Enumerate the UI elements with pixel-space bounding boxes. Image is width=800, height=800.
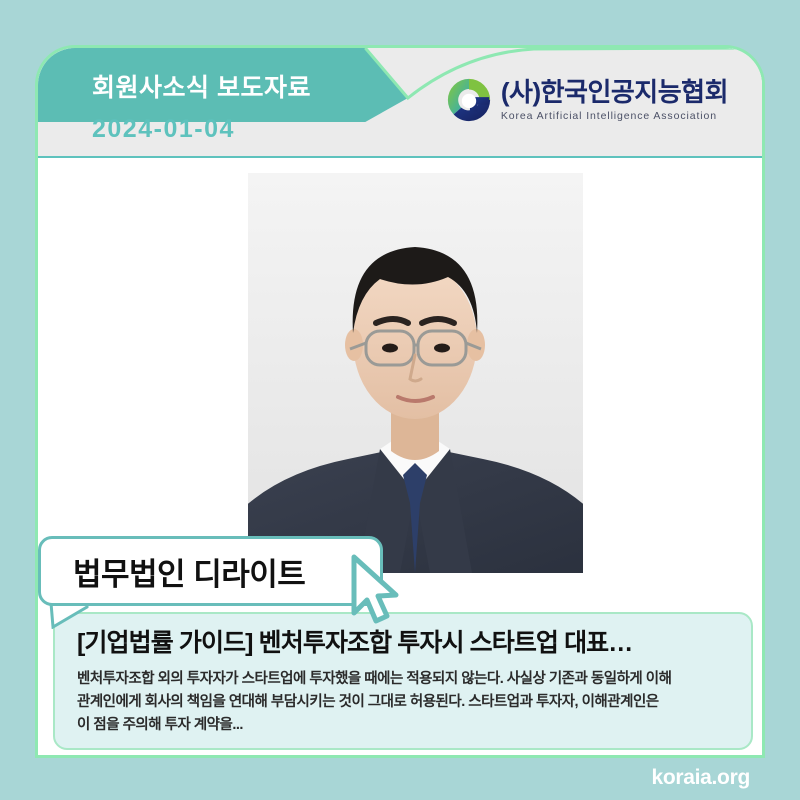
- photo-area: [38, 158, 762, 578]
- header-divider: [38, 156, 762, 158]
- article-panel[interactable]: [기업법률 가이드] 벤처투자조합 투자시 스타트업 대표… 벤처투자조합 외의…: [53, 612, 753, 750]
- logo-subtitle: Korea Artificial Intelligence Associatio…: [501, 110, 728, 122]
- publish-date: 2024-01-04: [92, 115, 235, 144]
- tab-label: 회원사소식 보도자료: [92, 68, 311, 104]
- speech-bubble-label: 법무법인 디라이트: [73, 549, 305, 594]
- description-line: 이 점을 주의해 투자 계약을...: [77, 714, 729, 737]
- portrait-photo: [248, 173, 583, 573]
- article-headline: [기업법률 가이드] 벤처투자조합 투자시 스타트업 대표…: [77, 628, 729, 658]
- description-line: 관계인에게 회사의 책임을 연대해 부담시키는 것이 그대로 허용된다. 스타트…: [77, 691, 729, 714]
- koraia-circle-logo-icon: [445, 76, 493, 124]
- logo-text-block: (사)한국인공지능협회 Korea Artificial Intelligenc…: [501, 78, 728, 122]
- description-line: 벤처투자조합 외의 투자자가 스타트업에 투자했을 때에는 적용되지 않는다. …: [77, 668, 729, 691]
- logo-title: (사)한국인공지능협회: [501, 78, 728, 107]
- mouse-pointer-icon[interactable]: [346, 553, 402, 625]
- article-description: 벤처투자조합 외의 투자자가 스타트업에 투자했을 때에는 적용되지 않는다. …: [77, 668, 729, 738]
- card-header: 회원사소식 보도자료 2024-01-04: [38, 48, 762, 158]
- portrait-illustration: [248, 173, 583, 573]
- news-card: 회원사소식 보도자료 2024-01-04: [35, 45, 765, 758]
- association-logo: (사)한국인공지능협회 Korea Artificial Intelligenc…: [445, 76, 728, 124]
- speech-bubble[interactable]: 법무법인 디라이트: [38, 536, 383, 606]
- footer-url[interactable]: koraia.org: [651, 766, 750, 790]
